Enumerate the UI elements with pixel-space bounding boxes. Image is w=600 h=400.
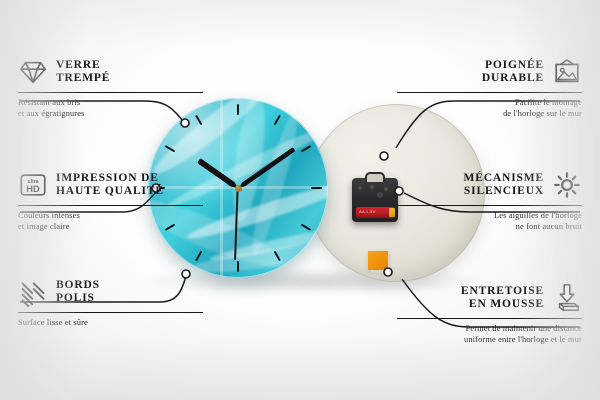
infographic-canvas: AA 1.5V: [0, 0, 600, 400]
callout-header: BORDS POLIS: [18, 277, 203, 307]
callout-header: MÉCANISME SILENCIEUX: [397, 170, 582, 200]
callout-rule: [397, 205, 582, 206]
clock-mechanism: AA 1.5V: [352, 178, 398, 222]
feature-callout-bords-polis[interactable]: BORDS POLIS Surface lisse et sûre: [18, 277, 203, 329]
callout-header: ultra HD IMPRESSION DE HAUTE QUALITÉ: [18, 170, 203, 200]
feature-callout-mecanisme[interactable]: MÉCANISME SILENCIEUX Les aiguilles de l'…: [397, 170, 582, 232]
callout-header: ENTRETOISE EN MOUSSE: [397, 283, 582, 313]
battery-label: AA 1.5V: [359, 209, 376, 214]
foam-spacer-arrow-icon: [552, 283, 582, 313]
callout-rule: [397, 318, 582, 319]
picture-frame-hanger-icon: [552, 57, 582, 87]
foam-spacer-pad: [368, 251, 388, 270]
callout-desc-line2: ne font aucun bruit: [397, 222, 582, 232]
callout-title: ENTRETOISE EN MOUSSE: [461, 285, 544, 310]
callout-desc-line1: Les aiguilles de l'horloge: [397, 211, 582, 221]
callout-title: VERRE TREMPÉ: [56, 59, 110, 84]
callout-desc-line2: uniforme entre l'horloge et le mur: [397, 335, 582, 345]
callout-title: IMPRESSION DE HAUTE QUALITÉ: [56, 172, 164, 197]
callout-header: VERRE TREMPÉ: [18, 57, 203, 87]
callout-desc-line1: Couleurs intenses: [18, 211, 203, 221]
feature-callout-poignee[interactable]: POIGNÉE DURABLE Facilite le montage de l…: [397, 57, 582, 119]
gear-icon: [552, 170, 582, 200]
callout-desc-line2: et image claire: [18, 222, 203, 232]
callout-desc-line2: et aux égratignures: [18, 109, 203, 119]
battery: AA 1.5V: [356, 207, 394, 218]
callout-title: MÉCANISME SILENCIEUX: [464, 172, 545, 197]
callout-header: POIGNÉE DURABLE: [397, 57, 582, 87]
callout-desc-line1: Permet de maintenir une distance: [397, 324, 582, 334]
mechanism-details: [356, 184, 394, 198]
callout-rule: [18, 205, 203, 206]
callout-rule: [18, 312, 203, 313]
callout-desc-line1: Facilite le montage: [397, 98, 582, 108]
callout-rule: [397, 92, 582, 93]
diamond-icon: [18, 57, 48, 87]
feature-callout-entretoise[interactable]: ENTRETOISE EN MOUSSE Permet de maintenir…: [397, 283, 582, 345]
hd-label: HD: [26, 184, 40, 194]
feature-callout-impression[interactable]: ultra HD IMPRESSION DE HAUTE QUALITÉ Cou…: [18, 170, 203, 232]
ultra-hd-icon: ultra HD: [18, 170, 48, 200]
callout-desc-line1: Surface lisse et sûre: [18, 318, 203, 328]
callout-title: BORDS POLIS: [56, 279, 100, 304]
polished-edges-icon: [18, 277, 48, 307]
battery-terminal: [389, 208, 395, 217]
callout-rule: [18, 92, 203, 93]
callout-title: POIGNÉE DURABLE: [482, 59, 544, 84]
mechanism-hanger-tab: [365, 172, 385, 182]
callout-desc-line2: de l'horloge sur le mur: [397, 109, 582, 119]
feature-callout-verre-trempe[interactable]: VERRE TREMPÉ Résistant aux bris et aux é…: [18, 57, 203, 119]
callout-desc-line1: Résistant aux bris: [18, 98, 203, 108]
